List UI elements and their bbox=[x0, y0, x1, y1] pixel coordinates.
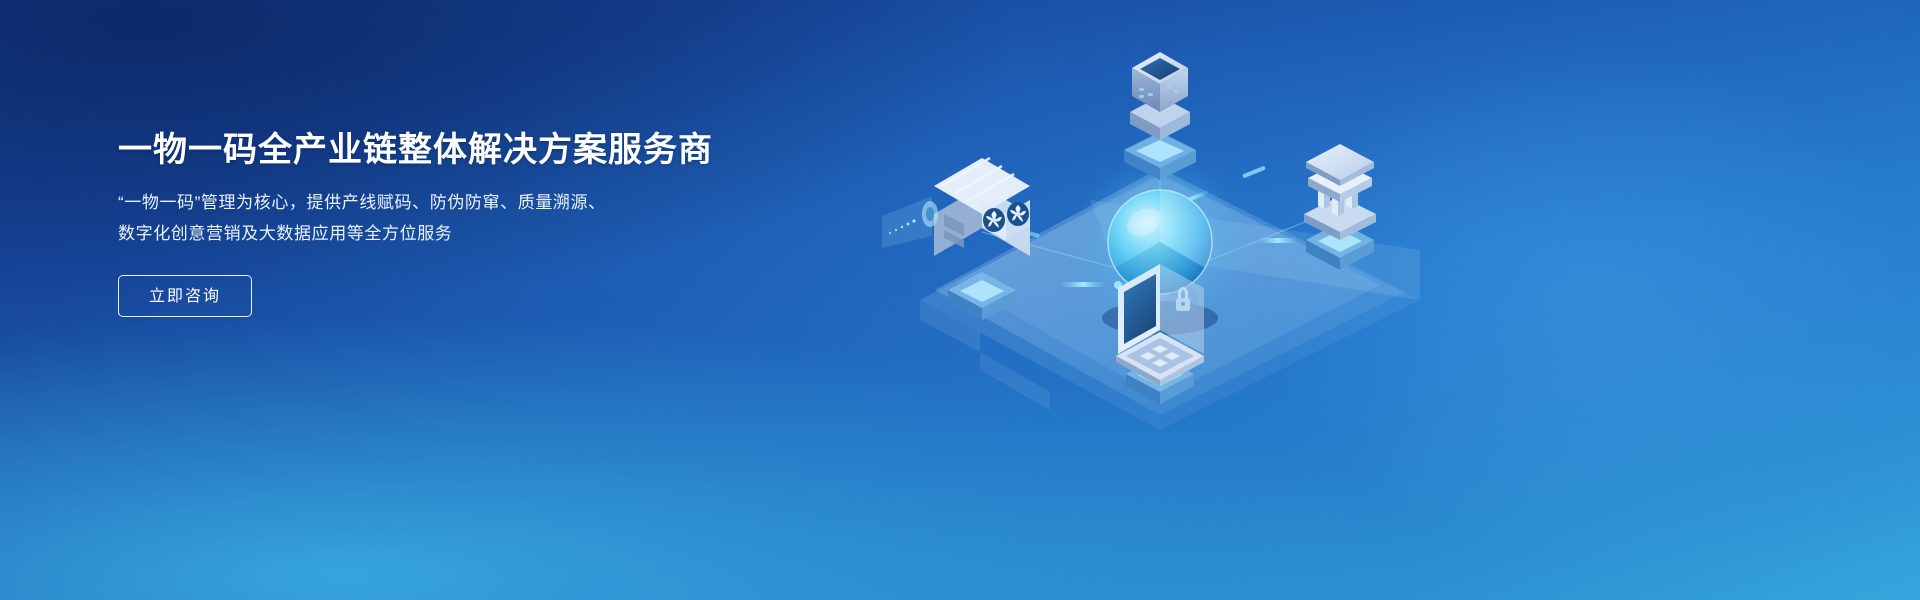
subtitle-line-2: 数字化创意营销及大数据应用等全方位服务 bbox=[118, 218, 738, 249]
hero-subtitle: “一物一码”管理为核心，提供产线赋码、防伪防窜、质量溯源、 数字化创意营销及大数… bbox=[118, 172, 738, 249]
hero-copy: 一物一码全产业链整体解决方案服务商 “一物一码”管理为核心，提供产线赋码、防伪防… bbox=[118, 128, 738, 317]
sphere-outer-glow bbox=[1064, 146, 1256, 338]
hero-banner: 一物一码全产业链整体解决方案服务商 “一物一码”管理为核心，提供产线赋码、防伪防… bbox=[0, 0, 1920, 600]
bank-building-icon bbox=[1304, 144, 1376, 270]
isometric-network-illustration bbox=[860, 0, 1500, 600]
server-rack-fan-icon bbox=[882, 158, 1030, 320]
consult-now-button[interactable]: 立即咨询 bbox=[118, 275, 252, 317]
scan-beam bbox=[882, 196, 938, 248]
subtitle-line-1: “一物一码”管理为核心，提供产线赋码、防伪防窜、质量溯源、 bbox=[118, 187, 738, 218]
page-title: 一物一码全产业链整体解决方案服务商 bbox=[118, 128, 738, 172]
